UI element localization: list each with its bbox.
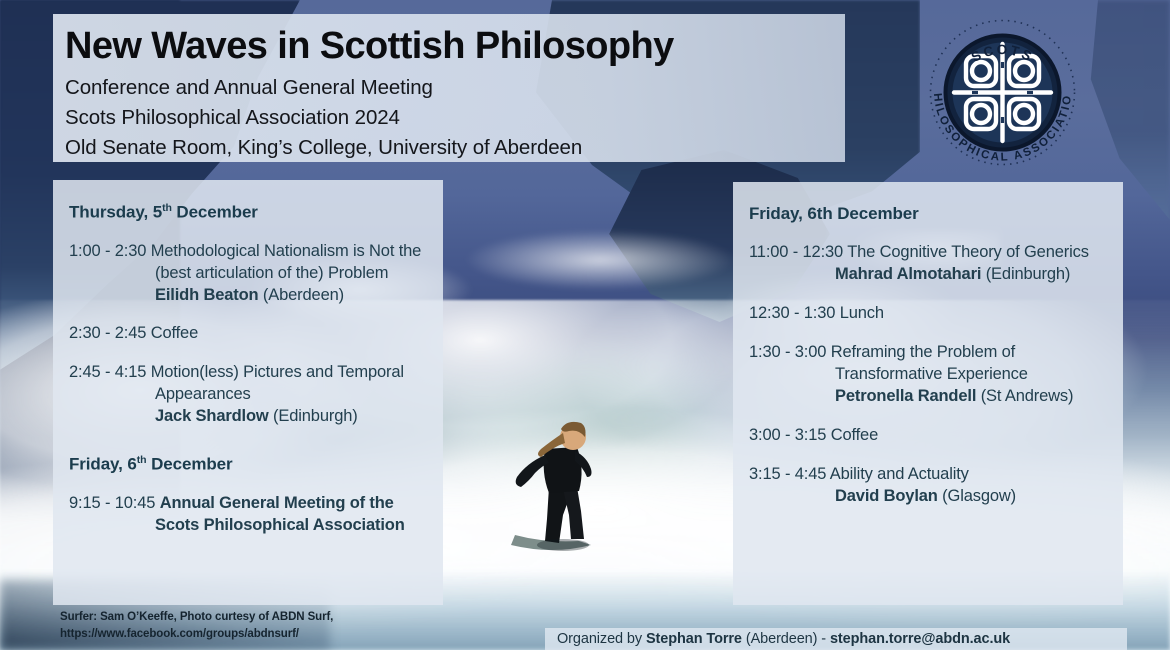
- poster-header-panel: New Waves in Scottish Philosophy Confere…: [53, 14, 845, 162]
- slot-time: 11:00 - 12:30: [749, 243, 847, 261]
- page-title: New Waves in Scottish Philosophy: [65, 24, 845, 69]
- schedule-item: 2:45 - 4:15 Motion(less) Pictures and Te…: [69, 362, 425, 428]
- day-heading-friday-left-tail: December: [146, 455, 232, 474]
- scots-philosophical-association-logo: SCOTS PHILOSOPHICAL ASSOCIATION: [920, 10, 1085, 175]
- slot-affiliation: (Edinburgh): [269, 407, 358, 425]
- schedule-item: 1:00 - 2:30 Methodological Nationalism i…: [69, 241, 425, 307]
- organizer-prefix: Organized by: [557, 631, 646, 647]
- slot-title: Lunch: [840, 304, 884, 322]
- photo-credit: Surfer: Sam O’Keeffe, Photo curtesy of A…: [60, 609, 390, 642]
- slot-speaker: David Boylan: [835, 487, 938, 505]
- slot-title: Methodological Nationalism is Not the (b…: [151, 242, 422, 282]
- day-heading-friday-left-main: Friday, 6: [69, 455, 137, 474]
- slot-time: 3:15 - 4:45: [749, 465, 830, 483]
- schedule-panel-right: Friday, 6th December 11:00 - 12:30 The C…: [733, 182, 1123, 605]
- slot-title: Reframing the Problem of Transformative …: [831, 343, 1028, 383]
- schedule-item: 12:30 - 1:30 Lunch: [749, 303, 1105, 325]
- slot-time: 12:30 - 1:30: [749, 304, 840, 322]
- schedule-item: 9:15 - 10:45 Annual General Meeting of t…: [69, 493, 425, 537]
- photo-credit-line-1: Surfer: Sam O’Keeffe, Photo curtesy of A…: [60, 609, 390, 625]
- slot-title: Coffee: [151, 324, 198, 342]
- day-heading-thursday-main: Thursday, 5: [69, 203, 162, 222]
- slot-time: 1:00 - 2:30: [69, 242, 151, 260]
- day-heading-friday-left: Friday, 6th December: [69, 454, 425, 475]
- slot-title: Motion(less) Pictures and Temporal Appea…: [151, 363, 404, 403]
- schedule-panel-left: Thursday, 5th December 1:00 - 2:30 Metho…: [53, 180, 443, 605]
- slot-title: Annual General Meeting of the Scots Phil…: [155, 494, 405, 534]
- subtitle-line-3: Old Senate Room, King’s College, Univers…: [65, 133, 845, 163]
- day-heading-friday-right: Friday, 6th December: [749, 204, 1105, 224]
- organizer-affiliation: (Aberdeen) -: [742, 631, 830, 647]
- day-heading-thursday-tail: December: [172, 203, 258, 222]
- slot-title: The Cognitive Theory of Generics: [847, 243, 1089, 261]
- slot-time: 2:30 - 2:45: [69, 324, 151, 342]
- slot-title: Ability and Actuality: [830, 465, 969, 483]
- schedule-item: 1:30 - 3:00 Reframing the Problem of Tra…: [749, 342, 1105, 408]
- subtitle-line-1: Conference and Annual General Meeting: [65, 73, 845, 103]
- slot-affiliation: (St Andrews): [976, 387, 1073, 405]
- schedule-item: 2:30 - 2:45 Coffee: [69, 323, 425, 345]
- slot-time: 2:45 - 4:15: [69, 363, 151, 381]
- schedule-item: 3:15 - 4:45 Ability and ActualityDavid B…: [749, 464, 1105, 508]
- day-heading-thursday: Thursday, 5th December: [69, 202, 425, 223]
- day-heading-thursday-ordinal: th: [162, 202, 172, 214]
- conference-poster: New Waves in Scottish Philosophy Confere…: [0, 0, 1170, 650]
- slot-affiliation: (Glasgow): [938, 487, 1016, 505]
- subtitle-line-2: Scots Philosophical Association 2024: [65, 103, 845, 133]
- slot-affiliation: (Edinburgh): [981, 265, 1070, 283]
- organizer-email[interactable]: stephan.torre@abdn.ac.uk: [830, 631, 1010, 647]
- slot-speaker: Jack Shardlow: [155, 407, 269, 425]
- photo-credit-url[interactable]: https://www.facebook.com/groups/abdnsurf…: [60, 626, 390, 642]
- slot-speaker: Mahrad Almotahari: [835, 265, 981, 283]
- organizer-name: Stephan Torre: [646, 631, 742, 647]
- slot-title: Coffee: [831, 426, 878, 444]
- organizer-credit: Organized by Stephan Torre (Aberdeen) - …: [545, 628, 1127, 650]
- slot-time: 9:15 - 10:45: [69, 494, 160, 512]
- slot-speaker: Eilidh Beaton: [155, 286, 258, 304]
- schedule-item: 3:00 - 3:15 Coffee: [749, 425, 1105, 447]
- slot-time: 3:00 - 3:15: [749, 426, 831, 444]
- slot-speaker: Petronella Randell: [835, 387, 976, 405]
- slot-affiliation: (Aberdeen): [258, 286, 343, 304]
- surfer-figure: [505, 415, 635, 585]
- schedule-item: 11:00 - 12:30 The Cognitive Theory of Ge…: [749, 242, 1105, 286]
- slot-time: 1:30 - 3:00: [749, 343, 831, 361]
